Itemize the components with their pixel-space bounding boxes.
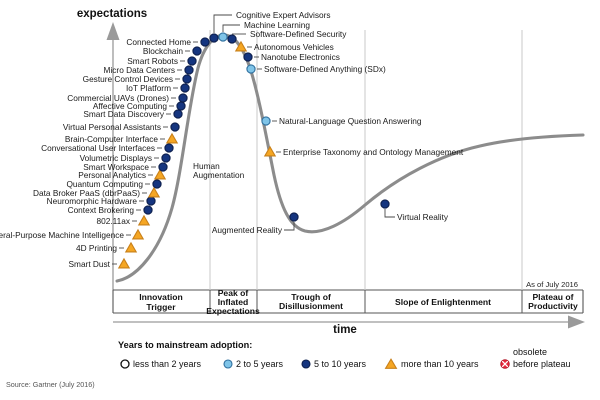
marker-5to10 xyxy=(174,110,182,118)
data-point[interactable]: Software-Defined Anything (SDx) xyxy=(247,64,386,74)
marker-5to10 xyxy=(153,180,161,188)
data-point[interactable]: Data Broker PaaS (dbrPaaS) xyxy=(33,188,159,198)
data-point[interactable]: 4D Printing xyxy=(76,243,136,253)
data-points-layer: Smart Dust4D PrintingGeneral-Purpose Mac… xyxy=(0,10,464,269)
data-point[interactable]: General-Purpose Machine Intelligence xyxy=(0,230,143,240)
data-point-label: Augmented Reality xyxy=(212,225,283,235)
data-point[interactable]: Software-Defined Security xyxy=(228,29,347,43)
marker-5to10 xyxy=(162,154,170,162)
svg-text:Innovation: Innovation xyxy=(139,292,182,302)
marker-5to10 xyxy=(183,75,191,83)
phase-label-3: Slope of Enlightenment xyxy=(395,297,491,307)
data-point[interactable]: Commercial UAVs (Drones) xyxy=(67,93,187,103)
data-point[interactable]: Brain-Computer Interface xyxy=(65,134,177,144)
marker-5to10 xyxy=(228,35,236,43)
leader-line-peak xyxy=(223,25,240,32)
data-point[interactable]: 802.11ax xyxy=(96,216,149,226)
data-point-label: 4D Printing xyxy=(76,243,117,253)
marker-5to10 xyxy=(181,84,189,92)
data-point-label: Natural-Language Question Answering xyxy=(279,116,422,126)
data-point[interactable]: Augmented Reality xyxy=(212,213,298,235)
data-point[interactable]: Autonomous Vehicles xyxy=(236,42,334,52)
data-point[interactable]: Quantum Computing xyxy=(66,179,161,189)
data-point-label: Data Broker PaaS (dbrPaaS) xyxy=(33,188,140,198)
data-point[interactable]: Natural-Language Question Answering xyxy=(262,116,422,126)
legend-title: Years to mainstream adoption: xyxy=(118,340,252,350)
data-point[interactable]: Blockchain xyxy=(143,46,201,56)
y-axis-title: expectations xyxy=(77,8,147,20)
data-point[interactable]: Context Brokering xyxy=(68,205,153,215)
marker-5to10 xyxy=(165,144,173,152)
data-point[interactable]: Volumetric Displays xyxy=(80,153,171,163)
x-axis-title: time xyxy=(333,324,357,336)
legend-marker-red-x-circle xyxy=(501,360,510,369)
marker-gt10 xyxy=(167,134,177,143)
as-of-label: As of July 2016 xyxy=(526,280,578,289)
data-point-label: IoT Platform xyxy=(126,83,171,93)
legend-marker-orange-triangle xyxy=(386,359,397,368)
data-point[interactable]: IoT Platform xyxy=(126,83,189,93)
marker-5to10 xyxy=(381,200,389,208)
data-point-label: Smart Workspace xyxy=(83,162,149,172)
marker-5to10 xyxy=(177,102,185,110)
legend-marker-light-circle xyxy=(224,360,232,368)
data-point[interactable]: Micro Data Centers xyxy=(104,65,194,75)
marker-5to10 xyxy=(188,57,196,65)
annotation-human-augmentation: Human Augmentation xyxy=(193,161,245,180)
data-point-label: Virtual Personal Assistants xyxy=(63,122,161,132)
data-point[interactable]: Gesture Control Devices xyxy=(83,74,191,84)
data-point-label: Brain-Computer Interface xyxy=(65,134,159,144)
data-point-label: Blockchain xyxy=(143,46,184,56)
data-point-label: Software-Defined Security xyxy=(250,29,347,39)
data-point-label: Nanotube Electronics xyxy=(261,52,340,62)
marker-5to10 xyxy=(179,94,187,102)
marker-5to10 xyxy=(147,197,155,205)
svg-text:Productivity: Productivity xyxy=(528,301,578,311)
legend-marker-dark-circle xyxy=(302,360,310,368)
marker-5to10 xyxy=(171,123,179,131)
marker-gt10 xyxy=(149,188,159,197)
marker-5to10 xyxy=(210,34,218,42)
marker-5to10 xyxy=(185,66,193,74)
data-point-label: Smart Robots xyxy=(127,56,178,66)
data-point-label: Autonomous Vehicles xyxy=(254,42,334,52)
data-point-label: Cognitive Expert Advisors xyxy=(236,10,331,20)
data-point-label: Connected Home xyxy=(126,37,191,47)
data-point-label: Smart Dust xyxy=(69,259,111,269)
marker-5to10 xyxy=(144,206,152,214)
marker-5to10 xyxy=(193,47,201,55)
source-note: Source: Gartner (July 2016) xyxy=(6,380,95,389)
marker-gt10 xyxy=(139,216,149,225)
data-point-label: General-Purpose Machine Intelligence xyxy=(0,230,124,240)
data-point-label: Context Brokering xyxy=(68,205,135,215)
data-point[interactable]: Virtual Reality xyxy=(381,200,449,222)
marker-5to10 xyxy=(159,163,167,171)
marker-5to10 xyxy=(201,38,209,46)
data-point-label: Micro Data Centers xyxy=(104,65,175,75)
marker-5to10 xyxy=(244,53,252,61)
data-point-label: Quantum Computing xyxy=(66,179,143,189)
leader-line xyxy=(385,209,395,217)
data-point[interactable]: Smart Workspace xyxy=(83,162,167,172)
legend-label-before-plateau: before plateau xyxy=(513,359,571,369)
svg-text:Trigger: Trigger xyxy=(146,302,176,312)
legend: Years to mainstream adoption: less than … xyxy=(118,340,571,369)
marker-gt10 xyxy=(119,259,129,268)
data-point-label: Commercial UAVs (Drones) xyxy=(67,93,169,103)
marker-2to5 xyxy=(262,117,270,125)
phase-label-innovation-trigger: Innovation Trigger xyxy=(118,291,206,312)
hype-cycle-svg: expectations Innovation Trigger Peak of … xyxy=(0,0,600,400)
data-point-label: 802.11ax xyxy=(96,216,130,226)
marker-gt10 xyxy=(126,243,136,252)
legend-label-obsolete: obsolete xyxy=(513,347,547,357)
marker-gt10 xyxy=(265,147,275,156)
marker-2to5 xyxy=(219,33,227,41)
data-point-label: Virtual Reality xyxy=(397,212,449,222)
marker-5to10 xyxy=(290,213,298,221)
data-point-label: Volumetric Displays xyxy=(80,153,152,163)
marker-2to5 xyxy=(247,65,255,73)
data-point[interactable]: Smart Dust xyxy=(69,259,130,269)
data-point[interactable]: Connected Home xyxy=(126,37,209,47)
legend-label-gt10: more than 10 years xyxy=(401,359,479,369)
svg-text:Expectations: Expectations xyxy=(206,306,260,316)
data-point-label: Gesture Control Devices xyxy=(83,74,173,84)
data-point-label: Enterprise Taxonomy and Ontology Managem… xyxy=(283,147,464,157)
svg-text:Augmentation: Augmentation xyxy=(193,170,245,180)
data-point[interactable]: Nanotube Electronics xyxy=(244,52,340,62)
data-point[interactable]: Enterprise Taxonomy and Ontology Managem… xyxy=(265,147,464,157)
data-point[interactable]: Conversational User Interfaces xyxy=(41,143,173,153)
data-point-label: Conversational User Interfaces xyxy=(41,143,155,153)
legend-label-5to10: 5 to 10 years xyxy=(314,359,367,369)
svg-text:Disillusionment: Disillusionment xyxy=(279,301,343,311)
hype-cycle-chart: expectations Innovation Trigger Peak of … xyxy=(0,0,600,400)
data-point[interactable]: Smart Robots xyxy=(127,56,196,66)
data-point-label: Software-Defined Anything (SDx) xyxy=(264,64,386,74)
legend-marker-open-circle xyxy=(121,360,129,368)
data-point[interactable]: Virtual Personal Assistants xyxy=(63,122,179,132)
legend-label-2to5: 2 to 5 years xyxy=(236,359,284,369)
marker-gt10 xyxy=(133,230,143,239)
legend-label-lt2: less than 2 years xyxy=(133,359,202,369)
